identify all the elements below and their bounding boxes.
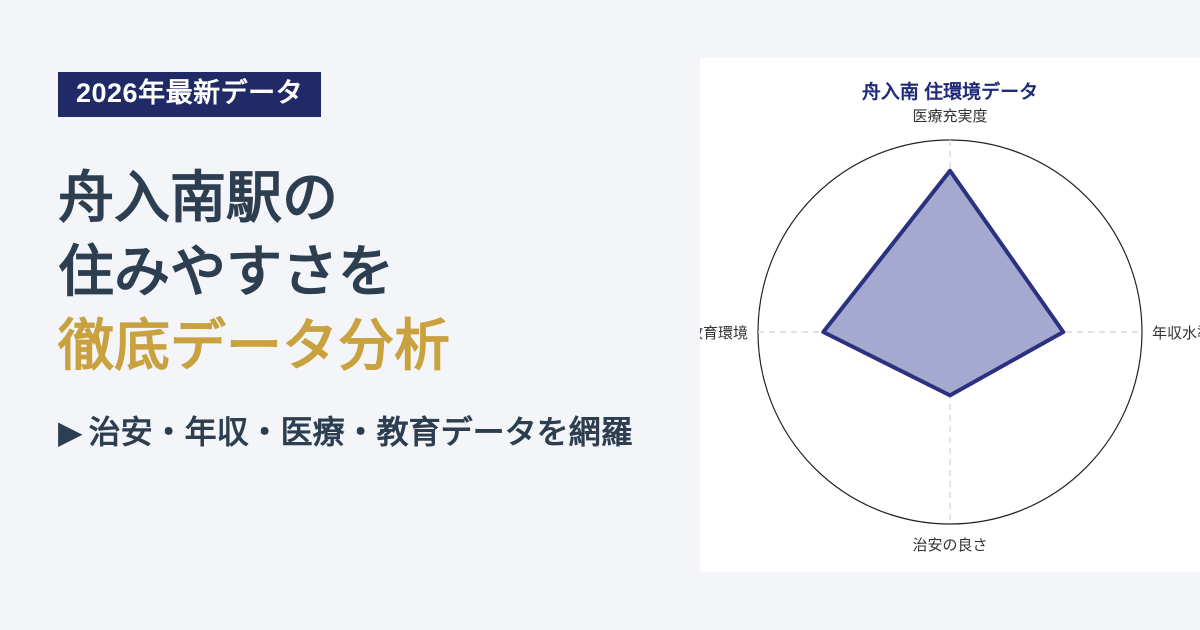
headline-line-2: 住みやすさを bbox=[58, 235, 700, 309]
subtitle-text: 治安・年収・医療・教育データを網羅 bbox=[89, 414, 633, 450]
radar-data-polygon bbox=[823, 171, 1063, 396]
latest-data-badge: 2026年最新データ bbox=[58, 72, 321, 117]
play-triangle-icon: ▶ bbox=[58, 413, 83, 451]
hero-left-panel: 2026年最新データ 舟入南駅の 住みやすさを 徹底データ分析 ▶治安・年収・医… bbox=[0, 0, 700, 630]
headline-line-3: 徹底データ分析 bbox=[58, 309, 700, 383]
headline-block: 舟入南駅の 住みやすさを 徹底データ分析 bbox=[58, 161, 700, 383]
radar-label-right: 年収水準 bbox=[1152, 325, 1200, 342]
radar-chart-card: 舟入南 住環境データ 医療充実度 年収水準 治安の良さ 教育環境 bbox=[700, 58, 1200, 572]
radar-chart-svg: 舟入南 住環境データ 医療充実度 年収水準 治安の良さ 教育環境 bbox=[700, 58, 1200, 572]
subtitle-row: ▶治安・年収・医療・教育データを網羅 bbox=[58, 407, 700, 453]
headline-line-1: 舟入南駅の bbox=[58, 161, 700, 235]
radar-label-left: 教育環境 bbox=[700, 324, 748, 342]
chart-title: 舟入南 住環境データ bbox=[862, 80, 1038, 103]
radar-label-bottom: 治安の良さ bbox=[912, 537, 987, 554]
radar-label-top: 医療充実度 bbox=[912, 108, 987, 125]
